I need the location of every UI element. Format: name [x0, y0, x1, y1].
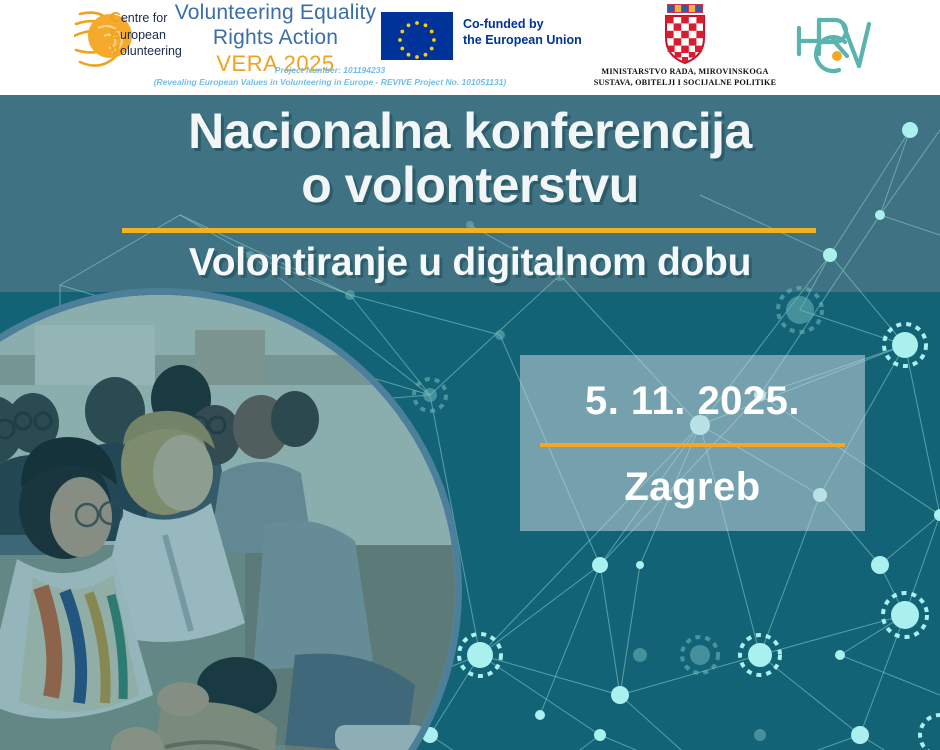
project-note: (Revealing European Values in Volunteeri… — [150, 76, 510, 88]
conference-poster: Centre for European Volunteering Volunte… — [0, 0, 940, 750]
cev-line-0-rest: entre for — [121, 11, 168, 25]
title-divider — [122, 228, 816, 233]
ministry-name-line2: SUSTAVA, OBITELJI I SOCIJALNE POLITIKE — [590, 77, 780, 88]
project-number-note: Project Number: 101194233 (Revealing Eur… — [150, 64, 510, 88]
croatian-coat-of-arms-icon — [659, 4, 711, 64]
event-date: 5. 11. 2025. — [520, 379, 865, 424]
event-city: Zagreb — [520, 465, 865, 510]
eu-flag-icon — [381, 12, 453, 60]
hrcv-logo-icon — [793, 10, 873, 78]
cev-line-0-cap: C — [110, 9, 121, 26]
vera-title-line1: Volunteering Equality — [168, 0, 383, 25]
cev-line-1-cap: E — [110, 26, 120, 43]
eu-cofunded-logo: Co-funded by the European Union — [381, 10, 581, 60]
title-line-1: Nacionalna konferencija — [0, 104, 940, 158]
conference-audience-photo — [0, 295, 455, 750]
ministry-name: MINISTARSTVO RADA, MIROVINSKOGA SUSTAVA,… — [590, 66, 780, 88]
cev-line-1-rest: uropean — [120, 28, 166, 42]
ministry-name-line1: MINISTARSTVO RADA, MIROVINSKOGA — [590, 66, 780, 77]
event-details-divider — [540, 443, 845, 447]
eu-cofunded-text: Co-funded by the European Union — [463, 16, 582, 48]
page-title: Nacionalna konferencija o volonterstvu — [0, 104, 940, 212]
vera-title-line2: Rights Action — [168, 25, 383, 50]
project-number: Project Number: 101194233 — [150, 64, 510, 76]
eu-text-line2: the European Union — [463, 32, 582, 48]
event-details-box: 5. 11. 2025. Zagreb — [520, 355, 865, 531]
photo-teal-overlay — [0, 295, 455, 750]
sponsor-logo-header: Centre for European Volunteering Volunte… — [0, 0, 940, 95]
ministry-logo: MINISTARSTVO RADA, MIROVINSKOGA SUSTAVA,… — [590, 4, 780, 88]
hrcv-logo — [793, 10, 873, 78]
page-subtitle: Volontiranje u digitalnom dobu — [0, 241, 940, 285]
title-line-2: o volonterstvu — [0, 158, 940, 212]
eu-text-line1: Co-funded by — [463, 16, 582, 32]
cev-line-2-cap: V — [110, 42, 120, 59]
